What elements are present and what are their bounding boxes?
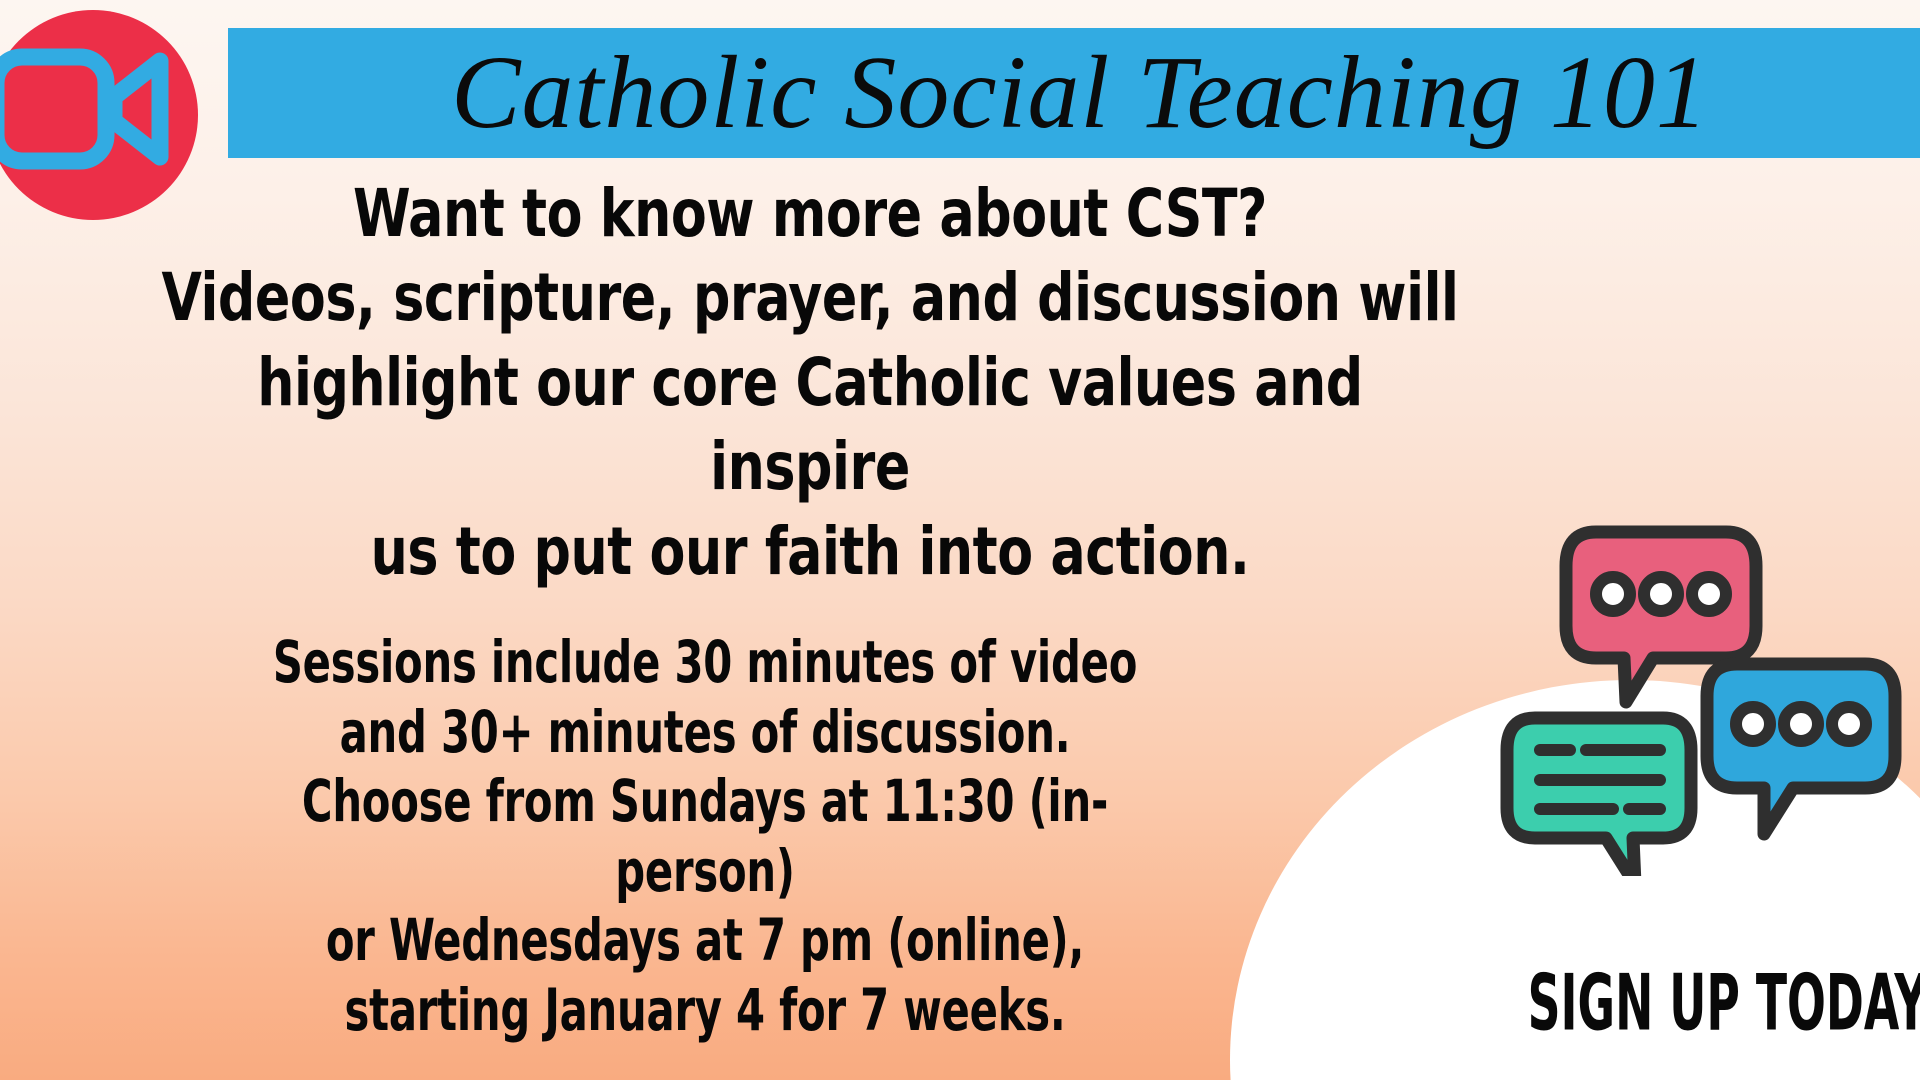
details-line-2: and 30+ minutes of discussion. [213,698,1197,768]
headline-line-2: Videos, scripture, prayer, and discussio… [150,256,1470,340]
title-banner: Catholic Social Teaching 101 [228,28,1920,158]
headline-line-3: highlight our core Catholic values and i… [150,341,1470,510]
video-camera-icon [0,47,180,171]
details-block: Sessions include 30 minutes of video and… [213,628,1197,1046]
details-line-4: or Wednesdays at 7 pm (online), [213,906,1197,976]
details-line-3: Choose from Sundays at 11:30 (in-person) [213,767,1197,906]
blue-speech-bubble [1707,664,1895,834]
headline-line-1: Want to know more about CST? [150,172,1470,256]
poster-canvas: Catholic Social Teaching 101 Want to kno… [0,0,1920,1080]
sign-up-today-text[interactable]: SIGN UP TODAY! [1528,965,1872,1043]
page-title: Catholic Social Teaching 101 [451,41,1709,145]
headline-block: Want to know more about CST? Videos, scr… [150,172,1470,594]
details-line-5: starting January 4 for 7 weeks. [213,976,1197,1046]
details-line-1: Sessions include 30 minutes of video [213,628,1197,698]
speech-bubbles-group [1498,516,1920,876]
headline-line-4: us to put our faith into action. [150,510,1470,594]
teal-speech-bubble [1507,718,1691,876]
